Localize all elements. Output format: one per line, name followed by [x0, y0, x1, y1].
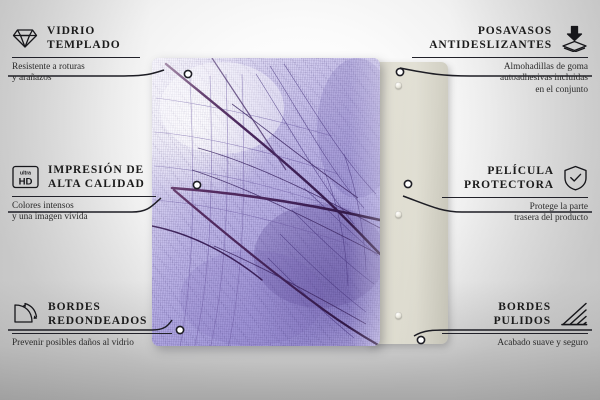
- feature-heading: PELÍCULA PROTECTORA: [442, 164, 588, 192]
- feature-divider: [12, 196, 156, 197]
- feature-title-line2: PROTECTORA: [464, 178, 554, 192]
- feature-heading: ultra HD IMPRESIÓN DE ALTA CALIDAD: [12, 163, 158, 191]
- rounded-corner-icon: [12, 302, 39, 327]
- feature-impresion-alta-calidad: ultra HD IMPRESIÓN DE ALTA CALIDAD Color…: [12, 163, 158, 224]
- rubber-pad: [395, 82, 402, 89]
- feature-title-line2: PULIDOS: [494, 314, 551, 328]
- feature-title-line1: BORDES: [48, 300, 147, 314]
- feature-description: Prevenir posibles daños al vidrio: [12, 338, 172, 349]
- feature-title-line1: IMPRESIÓN DE: [48, 163, 145, 177]
- diamond-icon: [12, 27, 38, 49]
- feature-vidrio-templado: VIDRIO TEMPLADO Resistente a roturas y a…: [12, 24, 144, 85]
- feature-divider: [12, 333, 172, 334]
- rubber-pad: [395, 312, 402, 319]
- svg-text:HD: HD: [19, 176, 33, 187]
- infographic-stage: VIDRIO TEMPLADO Resistente a roturas y a…: [0, 0, 600, 400]
- shield-check-icon: [563, 165, 588, 191]
- feature-divider: [442, 333, 588, 334]
- feature-title-line1: VIDRIO: [47, 24, 121, 38]
- feature-description: Resistente a roturas y arañazos: [12, 62, 144, 85]
- feature-title: BORDES PULIDOS: [494, 300, 551, 328]
- polished-edge-icon: [560, 302, 588, 327]
- feature-description: Protege la parte trasera del producto: [442, 202, 588, 225]
- feature-title: POSAVASOS ANTIDESLIZANTES: [429, 24, 552, 52]
- feature-posavasos-antideslizantes: POSAVASOS ANTIDESLIZANTES Almohadillas d…: [412, 24, 588, 96]
- feature-description: Colores intensos y una imagen vívida: [12, 201, 158, 224]
- feature-title: PELÍCULA PROTECTORA: [464, 164, 554, 192]
- feature-pelicula-protectora: PELÍCULA PROTECTORA Protege la parte tra…: [442, 164, 588, 225]
- feature-title-line2: ANTIDESLIZANTES: [429, 38, 552, 52]
- feature-heading: BORDES PULIDOS: [442, 300, 588, 328]
- feature-heading: BORDES REDONDEADOS: [12, 300, 172, 328]
- feature-heading: POSAVASOS ANTIDESLIZANTES: [412, 24, 588, 52]
- feature-title-line1: POSAVASOS: [429, 24, 552, 38]
- leaf-vein-artwork: [152, 58, 380, 346]
- product-front-panel: [152, 58, 380, 346]
- feature-bordes-redondeados: BORDES REDONDEADOS Prevenir posibles dañ…: [12, 300, 172, 349]
- feature-bordes-pulidos: BORDES PULIDOS Acabado suave y seguro: [442, 300, 588, 349]
- product-image: [152, 58, 448, 346]
- feature-divider: [412, 57, 588, 58]
- feature-title: IMPRESIÓN DE ALTA CALIDAD: [48, 163, 145, 191]
- rubber-pad: [395, 211, 402, 218]
- feature-divider: [12, 57, 140, 58]
- feature-description: Almohadillas de goma autoadhesivas inclu…: [412, 62, 588, 96]
- feature-title: VIDRIO TEMPLADO: [47, 24, 121, 52]
- feature-title-line2: REDONDEADOS: [48, 314, 147, 328]
- ultra-hd-icon: ultra HD: [12, 165, 39, 189]
- feature-title-line2: ALTA CALIDAD: [48, 177, 145, 191]
- feature-divider: [442, 197, 588, 198]
- feature-title-line1: BORDES: [494, 300, 551, 314]
- feature-title-line1: PELÍCULA: [464, 164, 554, 178]
- feature-heading: VIDRIO TEMPLADO: [12, 24, 144, 52]
- feature-description: Acabado suave y seguro: [442, 338, 588, 349]
- anti-slip-pad-icon: [561, 25, 588, 52]
- feature-title: BORDES REDONDEADOS: [48, 300, 147, 328]
- feature-title-line2: TEMPLADO: [47, 38, 121, 52]
